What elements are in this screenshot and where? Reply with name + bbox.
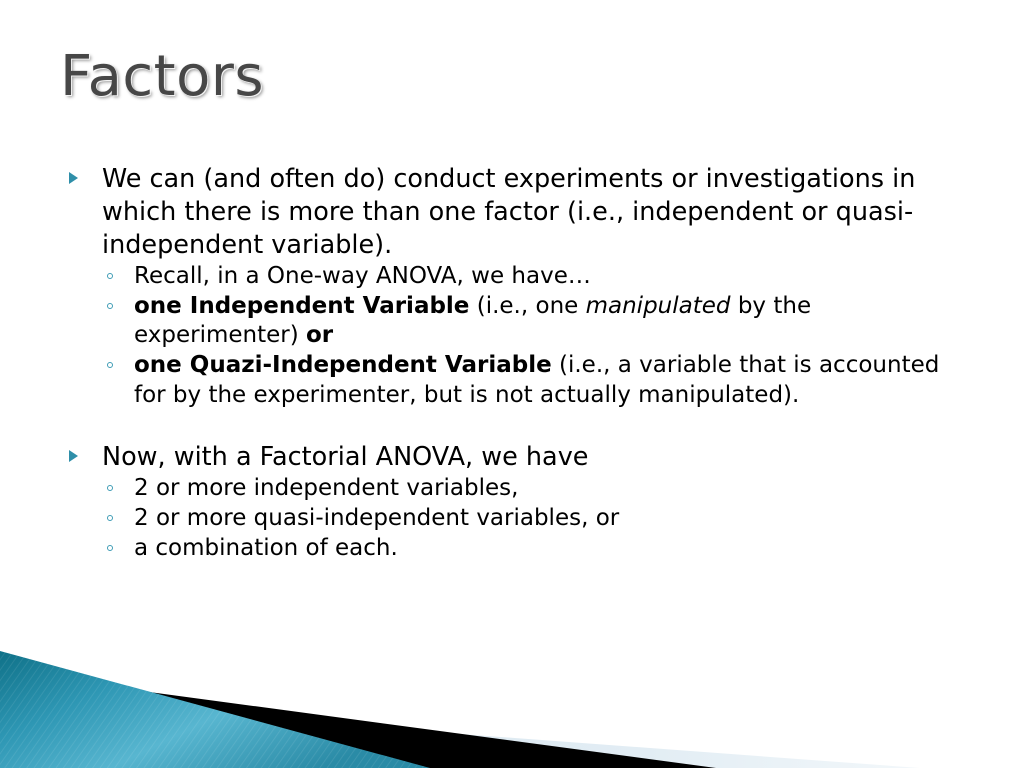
teal-triangle-texture (0, 651, 430, 768)
bullet-item-level2: 2 or more quasi-independent variables, o… (62, 504, 962, 534)
page-title: Factors (60, 44, 264, 109)
triangle-bullet-icon (69, 450, 78, 462)
bullet-item-level2: Recall, in a One-way ANOVA, we have… (62, 262, 962, 292)
bullet-item-level1: We can (and often do) conduct experiment… (62, 163, 962, 262)
teal-triangle (0, 651, 430, 768)
slide: Factors We can (and often do) conduct ex… (0, 0, 1024, 768)
bullet-text: Recall, in a One-way ANOVA, we have… (134, 263, 591, 289)
bullet-item-level2: one Quazi-Independent Variable (i.e., a … (62, 351, 962, 411)
bullet-item-level2: 2 or more independent variables, (62, 474, 962, 504)
bullet-text: (i.e., one (469, 293, 585, 319)
bullet-text-bold: one Independent Variable (134, 293, 469, 319)
pale-blue-band (0, 700, 920, 768)
triangle-bullet-icon (69, 172, 78, 184)
bullet-item-level2: a combination of each. (62, 534, 962, 564)
bullet-text: 2 or more independent variables, (134, 475, 518, 501)
slide-body: We can (and often do) conduct experiment… (62, 163, 962, 564)
circle-bullet-icon (107, 515, 113, 521)
bullet-text-bold: one Quazi-Independent Variable (134, 352, 552, 378)
bullet-text: 2 or more quasi-independent variables, o… (134, 505, 619, 531)
paragraph-spacer (62, 411, 962, 441)
bullet-text: We can (and often do) conduct experiment… (102, 164, 915, 260)
circle-bullet-icon (107, 545, 113, 551)
circle-bullet-icon (107, 273, 113, 279)
circle-bullet-icon (107, 303, 113, 309)
circle-bullet-icon (107, 362, 113, 368)
bullet-text: Now, with a Factorial ANOVA, we have (102, 442, 588, 472)
black-stripe (0, 672, 716, 768)
circle-bullet-icon (107, 485, 113, 491)
bullet-item-level2: one Independent Variable (i.e., one mani… (62, 292, 962, 352)
bullet-item-level1: Now, with a Factorial ANOVA, we have (62, 441, 962, 474)
bullet-text: a combination of each. (134, 535, 398, 561)
bullet-text-italic: manipulated (586, 293, 731, 319)
bullet-text-bold: or (306, 322, 333, 348)
